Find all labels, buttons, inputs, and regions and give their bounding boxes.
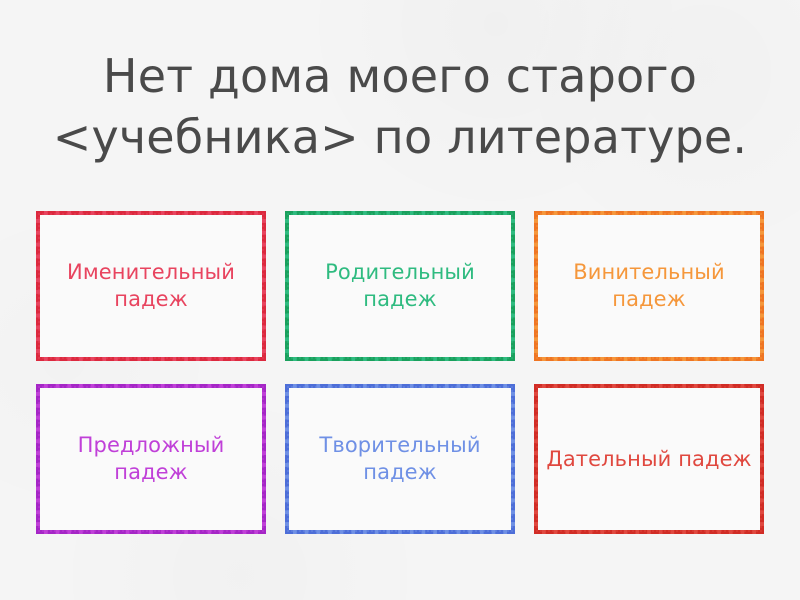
- answer-option-3[interactable]: Винительный падеж: [534, 211, 764, 361]
- answer-option-2-label: Родительный падеж: [285, 259, 515, 313]
- answer-option-6[interactable]: Дательный падеж: [534, 384, 764, 534]
- answer-option-4[interactable]: Предложный падеж: [36, 384, 266, 534]
- answer-option-4-label: Предложный падеж: [36, 432, 266, 486]
- answer-option-2[interactable]: Родительный падеж: [285, 211, 515, 361]
- answer-option-5[interactable]: Творительный падеж: [285, 384, 515, 534]
- answer-option-3-label: Винительный падеж: [534, 259, 764, 313]
- answer-option-1[interactable]: Именительный падеж: [36, 211, 266, 361]
- answer-option-1-label: Именительный падеж: [36, 259, 266, 313]
- answer-option-5-label: Творительный падеж: [285, 432, 515, 486]
- question-prompt: Нет дома моего старого <учебника> по лит…: [0, 46, 800, 167]
- answer-option-6-label: Дательный падеж: [536, 446, 761, 473]
- answer-options-grid: Именительный падеж Родительный падеж Вин…: [36, 211, 764, 534]
